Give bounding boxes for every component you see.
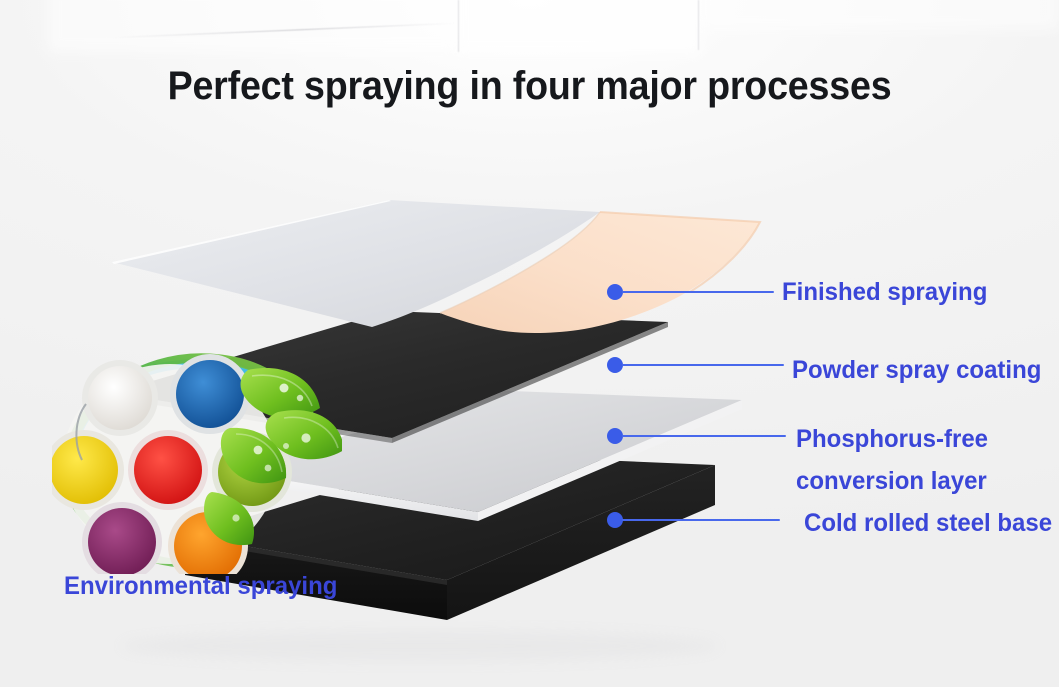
callout-label-phosphorus-free-line1: Phosphorus-free	[796, 418, 988, 460]
callout-leader-line	[622, 364, 784, 366]
callout-leader-line	[622, 435, 786, 437]
callout-dot-phosphorus-free-conversion-layer	[607, 428, 623, 444]
blue-powder-cup	[170, 354, 250, 434]
callout-dot-finished-spraying	[607, 284, 623, 300]
red-powder-cup	[128, 430, 208, 510]
environmental-powder-artwork	[52, 352, 342, 574]
callout-label-cold-rolled-steel-base: Cold rolled steel base	[804, 502, 1052, 544]
callout-label-finished-spraying: Finished spraying	[782, 271, 987, 313]
page-title: Perfect spraying in four major processes	[32, 64, 1027, 109]
white-powder-cup	[82, 360, 158, 436]
background-artifact	[700, 0, 1059, 30]
callout-dot-powder-spray-coating	[607, 357, 623, 373]
callout-leader-line	[622, 519, 780, 521]
callout-label-phosphorus-free-line2: conversion layer	[796, 460, 987, 502]
callout-label-powder-spray-coating: Powder spray coating	[792, 349, 1041, 391]
background-artifact-edge	[458, 0, 459, 52]
infographic-canvas: Perfect spraying in four major processes	[0, 0, 1059, 687]
background-artifact-edge	[698, 0, 699, 50]
background-artifact	[456, 0, 700, 54]
callout-dot-cold-rolled-steel-base	[607, 512, 623, 528]
callout-leader-line	[622, 291, 774, 293]
label-environmental-spraying: Environmental spraying	[64, 572, 337, 601]
